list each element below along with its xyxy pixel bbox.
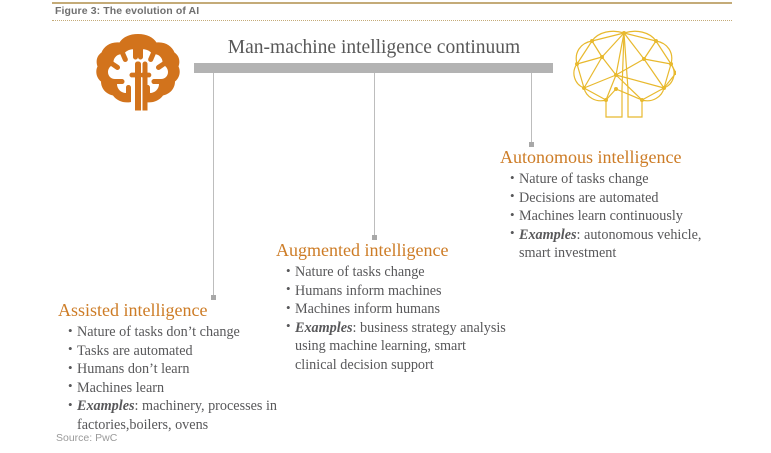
header-top-rule: [52, 2, 732, 4]
continuum-title: Man-machine intelligence continuum: [194, 37, 554, 59]
list-item: Nature of tasks change: [511, 170, 736, 189]
bullet-text: Humans don’t learn: [77, 361, 189, 377]
connector-line-assisted: [213, 73, 214, 298]
bullet-text: Tasks are automated: [77, 343, 193, 359]
bullet-text: Humans inform machines: [295, 283, 442, 299]
header-dotted-rule: [52, 20, 732, 21]
bullet-text: Machines learn continuously: [519, 208, 683, 224]
stage-bullet-list: Nature of tasks change Humans inform mac…: [276, 263, 508, 374]
figure-caption: Figure 3: The evolution of AI: [55, 5, 199, 17]
brain-network-icon: [572, 27, 676, 119]
bullet-text: Decisions are automated: [519, 190, 658, 206]
connector-line-autonomous: [531, 73, 532, 145]
examples-label: Examples: [77, 398, 135, 414]
source-note: Source: PwC: [56, 432, 117, 444]
list-item-examples: Examples: machinery, processes in factor…: [69, 397, 320, 434]
list-item-examples: Examples: business strategy analysis usi…: [287, 319, 508, 375]
brain-solid-icon: [96, 31, 180, 113]
stage-title: Augmented intelligence: [276, 240, 508, 261]
bullet-text: Machines inform humans: [295, 301, 440, 317]
bullet-text: Machines learn: [77, 380, 164, 396]
figure-header: Figure 3: The evolution of AI: [52, 2, 732, 22]
bullet-text: Nature of tasks change: [295, 264, 425, 280]
list-item: Nature of tasks change: [287, 263, 508, 282]
list-item: Humans inform machines: [287, 282, 508, 301]
bullet-text: Nature of tasks don’t change: [77, 324, 240, 340]
bullet-text: Nature of tasks change: [519, 171, 649, 187]
stage-autonomous-intelligence: Autonomous intelligence Nature of tasks …: [500, 147, 736, 263]
list-item: Machines learn continuously: [511, 207, 736, 226]
stage-title: Autonomous intelligence: [500, 147, 736, 168]
stage-augmented-intelligence: Augmented intelligence Nature of tasks c…: [276, 240, 508, 374]
list-item: Machines learn: [69, 379, 320, 398]
examples-label: Examples: [295, 320, 353, 336]
stage-bullet-list: Nature of tasks change Decisions are aut…: [500, 170, 736, 263]
list-item-examples: Examples: autonomous vehicle, smart inve…: [511, 226, 736, 263]
continuum-bar: [194, 63, 553, 73]
connector-line-augmented: [374, 73, 375, 238]
list-item: Machines inform humans: [287, 300, 508, 319]
examples-label: Examples: [519, 227, 577, 243]
list-item: Decisions are automated: [511, 189, 736, 208]
